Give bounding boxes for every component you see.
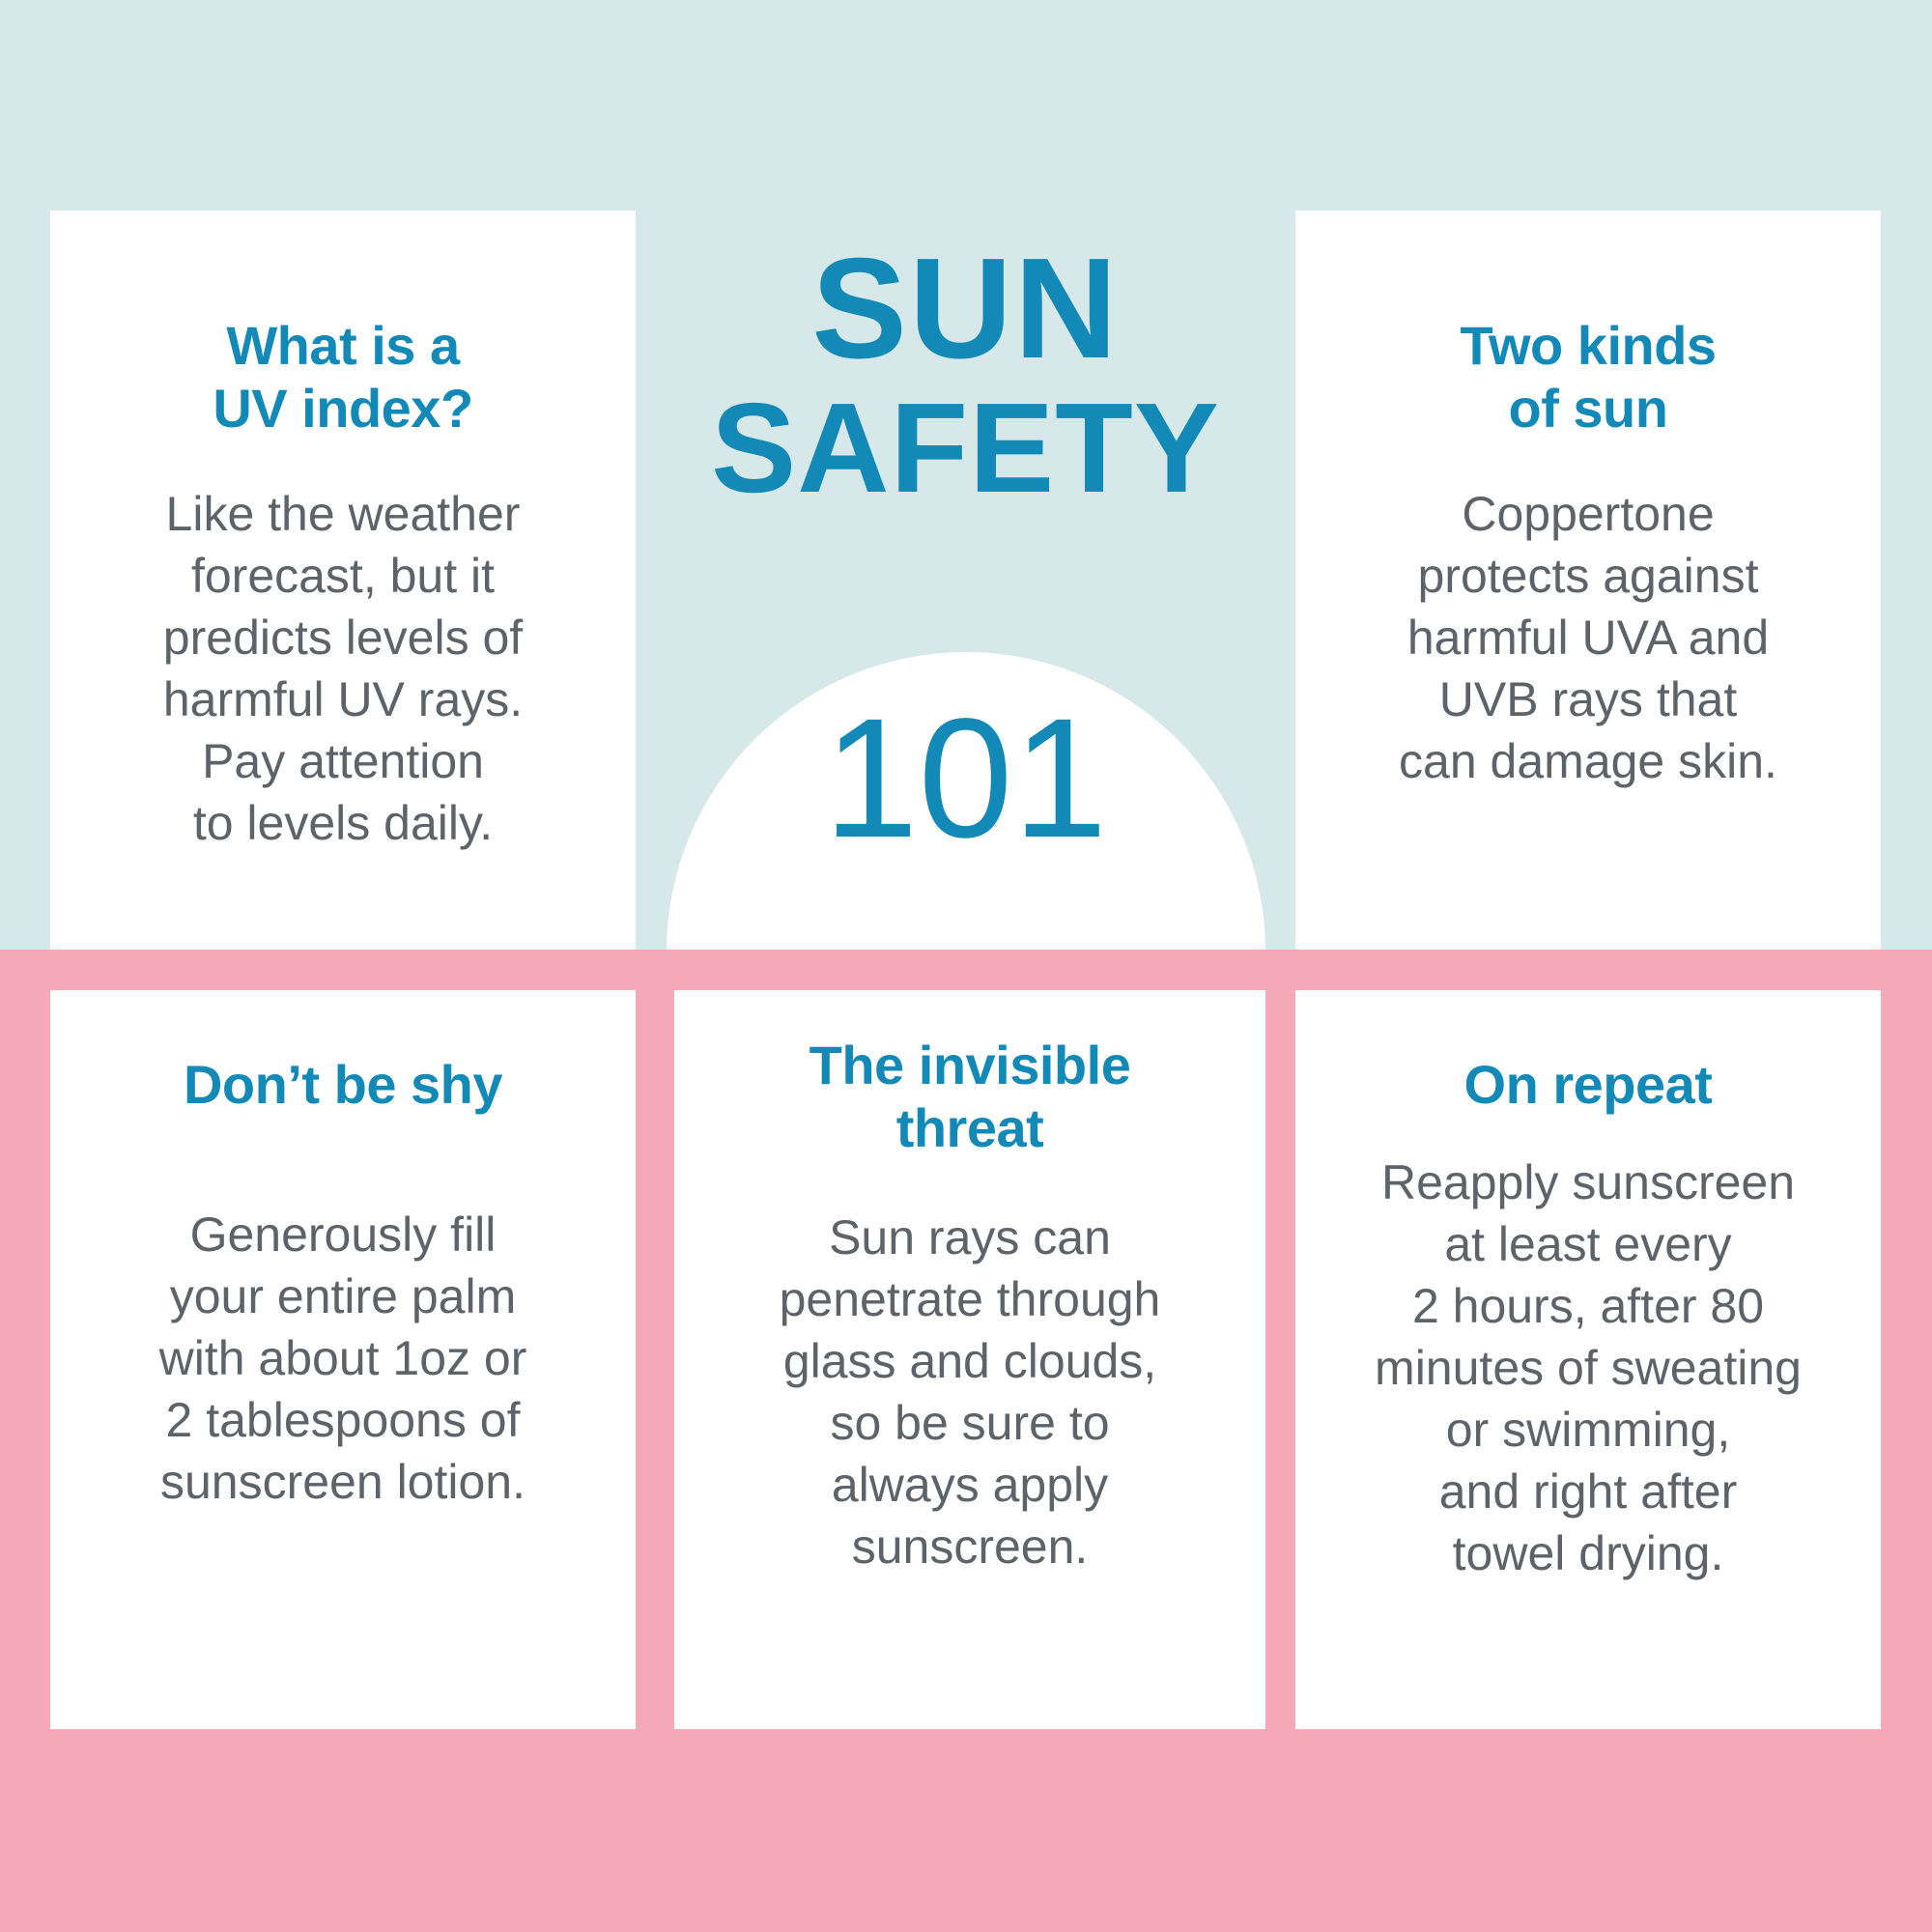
card-body-dont-be-shy: Generously fill your entire palm with ab… [93,1204,593,1513]
card-uv-index: What is a UV index? Like the weather for… [50,211,636,950]
card-title-two-kinds-of-sun: Two kinds of sun [1338,315,1838,440]
card-on-repeat: On repeat Reapply sunscreen at least eve… [1295,990,1881,1729]
hero-badge-101: 101 [636,694,1295,864]
hero-title-safety: SAFETY [636,384,1295,512]
card-body-on-repeat: Reapply sunscreen at least every 2 hours… [1338,1151,1838,1584]
card-title-invisible-threat: The invisible threat [717,1035,1223,1160]
card-title-dont-be-shy: Don’t be shy [93,1054,593,1117]
hero-title-block: SUN SAFETY 101 [636,211,1295,950]
sun-safety-infographic: SUN SAFETY 101 What is a UV index? Like … [0,0,1932,1932]
card-title-uv-index: What is a UV index? [93,315,593,440]
card-two-kinds-of-sun: Two kinds of sun Coppertone protects aga… [1295,211,1881,950]
card-body-uv-index: Like the weather forecast, but it predic… [93,483,593,854]
card-body-two-kinds-of-sun: Coppertone protects against harmful UVA … [1338,483,1838,792]
hero-title-sun: SUN [636,238,1295,381]
card-body-invisible-threat: Sun rays can penetrate through glass and… [717,1207,1223,1577]
card-title-on-repeat: On repeat [1338,1054,1838,1117]
card-invisible-threat: The invisible threat Sun rays can penetr… [674,990,1265,1729]
card-dont-be-shy: Don’t be shy Generously fill your entire… [50,990,636,1729]
hero-inner: SUN SAFETY 101 [636,211,1295,950]
